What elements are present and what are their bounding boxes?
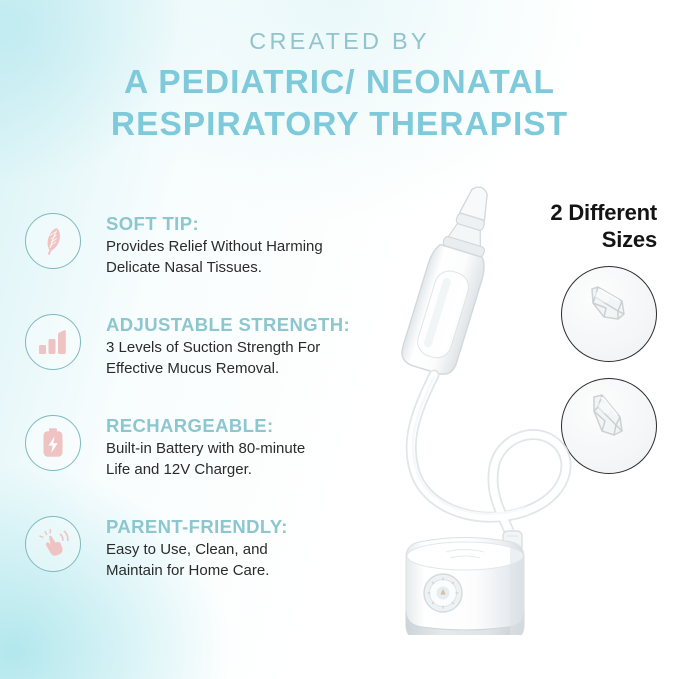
feature-desc-line-2: Life and 12V Charger. xyxy=(106,460,382,480)
hand-tap-icon xyxy=(25,516,81,572)
battery-charging-icon xyxy=(25,415,81,471)
feature-title: ADJUSTABLE STRENGTH: xyxy=(106,313,382,336)
eyebrow-text: CREATED BY xyxy=(0,28,679,55)
infographic-page: CREATED BY A PEDIATRIC/ NEONATAL RESPIRA… xyxy=(0,0,679,679)
feature-description: 3 Levels of Suction Strength For Effecti… xyxy=(106,338,382,379)
signal-bars-icon xyxy=(25,314,81,370)
feature-item-soft-tip: SOFT TIP: Provides Relief Without Harmin… xyxy=(22,205,382,306)
feature-list: SOFT TIP: Provides Relief Without Harmin… xyxy=(22,205,382,609)
handpiece-wand xyxy=(398,179,507,378)
feature-desc-line-2: Maintain for Home Care. xyxy=(106,561,382,581)
feature-body: SOFT TIP: Provides Relief Without Harmin… xyxy=(106,205,382,278)
feature-desc-line-1: Built-in Battery with 80-minute xyxy=(106,439,382,459)
feature-title: PARENT-FRIENDLY: xyxy=(106,515,382,538)
feature-body: ADJUSTABLE STRENGTH: 3 Levels of Suction… xyxy=(106,306,382,379)
headline-line-1: A PEDIATRIC/ NEONATAL xyxy=(0,62,679,104)
feature-desc-line-2: Effective Mucus Removal. xyxy=(106,359,382,379)
headline-line-2: RESPIRATORY THERAPIST xyxy=(0,104,679,146)
feature-title: SOFT TIP: xyxy=(106,212,382,235)
feature-item-adjustable-strength: ADJUSTABLE STRENGTH: 3 Levels of Suction… xyxy=(22,306,382,407)
feature-body: PARENT-FRIENDLY: Easy to Use, Clean, and… xyxy=(106,508,382,581)
feature-title: RECHARGEABLE: xyxy=(106,414,382,437)
page-title: A PEDIATRIC/ NEONATAL RESPIRATORY THERAP… xyxy=(0,62,679,146)
feature-desc-line-2: Delicate Nasal Tissues. xyxy=(106,258,382,278)
feature-description: Built-in Battery with 80-minute Life and… xyxy=(106,439,382,480)
header: CREATED BY A PEDIATRIC/ NEONATAL RESPIRA… xyxy=(0,28,679,146)
feature-item-rechargeable: RECHARGEABLE: Built-in Battery with 80-m… xyxy=(22,407,382,508)
base-unit xyxy=(406,538,524,636)
feature-desc-line-1: 3 Levels of Suction Strength For xyxy=(106,338,382,358)
feature-description: Easy to Use, Clean, and Maintain for Hom… xyxy=(106,540,382,581)
feature-description: Provides Relief Without Harming Delicate… xyxy=(106,237,382,278)
feature-desc-line-1: Provides Relief Without Harming xyxy=(106,237,382,257)
feature-item-parent-friendly: PARENT-FRIENDLY: Easy to Use, Clean, and… xyxy=(22,508,382,609)
silicone-tubing xyxy=(411,375,566,541)
feature-desc-line-1: Easy to Use, Clean, and xyxy=(106,540,382,560)
control-dial xyxy=(424,574,462,612)
nasal-aspirator-device xyxy=(360,175,660,635)
feather-icon xyxy=(25,213,81,269)
feature-body: RECHARGEABLE: Built-in Battery with 80-m… xyxy=(106,407,382,480)
